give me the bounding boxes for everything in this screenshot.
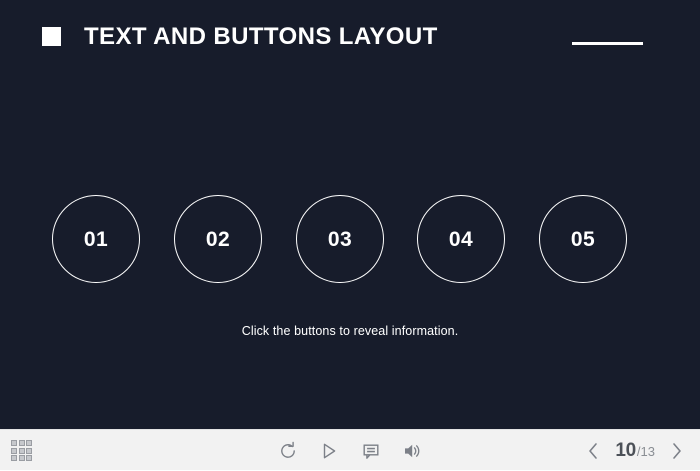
filled-square-icon	[42, 27, 61, 46]
circle-button-label: 04	[449, 229, 473, 250]
current-page-number: 10	[615, 440, 636, 462]
replay-icon[interactable]	[274, 438, 302, 464]
circle-button-03[interactable]: 03	[296, 195, 384, 283]
grid-cell	[19, 440, 25, 446]
circle-button-row: 01 02 03 04 05	[0, 195, 700, 285]
play-icon[interactable]	[315, 438, 343, 464]
slide-stage: TEXT AND BUTTONS LAYOUT 01 02 03 04 05 C…	[0, 0, 700, 429]
instruction-text: Click the buttons to reveal information.	[0, 324, 700, 338]
circle-button-label: 02	[206, 229, 230, 250]
circle-button-04[interactable]: 04	[417, 195, 505, 283]
grid-cell	[11, 448, 17, 454]
grid-cell	[26, 448, 32, 454]
circle-button-05[interactable]: 05	[539, 195, 627, 283]
grid-cell	[26, 455, 32, 461]
grid-cell	[19, 455, 25, 461]
total-page-count: /13	[637, 444, 655, 459]
page-title: TEXT AND BUTTONS LAYOUT	[84, 21, 438, 53]
slide-header: TEXT AND BUTTONS LAYOUT	[0, 0, 700, 75]
playback-controls	[270, 430, 430, 471]
chevron-left-icon[interactable]	[584, 439, 602, 463]
circle-button-01[interactable]: 01	[52, 195, 140, 283]
chevron-right-icon[interactable]	[668, 439, 686, 463]
circle-button-02[interactable]: 02	[174, 195, 262, 283]
circle-button-label: 01	[84, 229, 108, 250]
header-rule-decoration	[572, 42, 643, 45]
grid-cell	[26, 440, 32, 446]
page-indicator: 10 /13	[615, 440, 655, 462]
slide-player: TEXT AND BUTTONS LAYOUT 01 02 03 04 05 C…	[0, 0, 700, 470]
grid-cell	[11, 455, 17, 461]
comment-icon[interactable]	[357, 438, 385, 464]
circle-button-label: 05	[571, 229, 595, 250]
circle-button-label: 03	[328, 229, 352, 250]
grid-menu-icon[interactable]	[11, 440, 32, 461]
grid-cell	[11, 440, 17, 446]
volume-icon[interactable]	[398, 438, 426, 464]
grid-cell	[19, 448, 25, 454]
page-navigation: 10 /13	[584, 430, 686, 471]
player-toolbar: 10 /13	[0, 429, 700, 470]
